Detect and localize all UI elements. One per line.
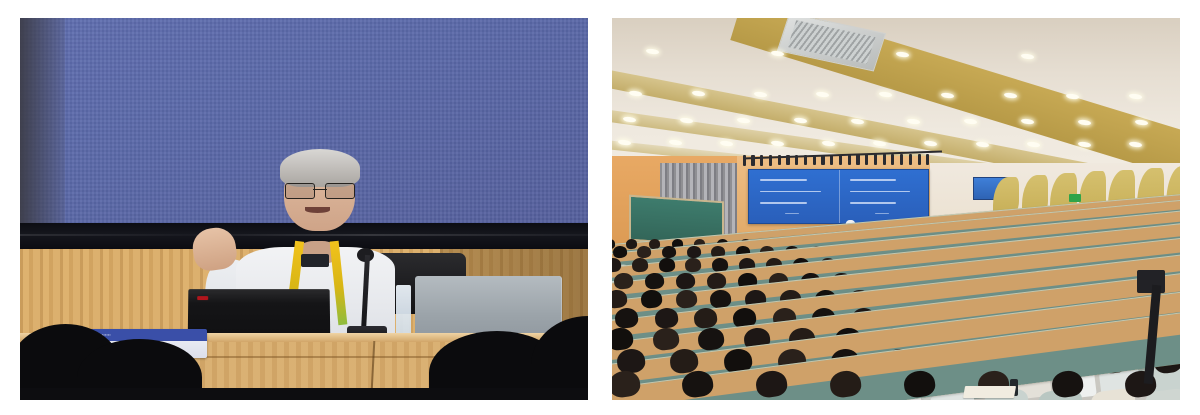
slide-text-line xyxy=(850,179,897,181)
stage-spotlight xyxy=(900,154,903,165)
audience-head xyxy=(644,272,664,289)
speaker-hair xyxy=(280,149,360,187)
stage-spotlight xyxy=(760,155,763,166)
exit-sign-icon xyxy=(1069,194,1080,202)
stage-spotlight xyxy=(926,154,929,165)
right-photo-lecture-hall[interactable] xyxy=(612,18,1180,400)
audience-head xyxy=(661,246,676,259)
stage-spotlight xyxy=(743,155,746,166)
stage-spotlight xyxy=(891,154,894,165)
slide-text-line xyxy=(850,202,897,204)
slide-text-line xyxy=(875,213,889,215)
stage-spotlight xyxy=(778,155,781,166)
eyeglasses-icon xyxy=(285,183,355,197)
stage-spotlight xyxy=(786,155,789,166)
lapel-microphone xyxy=(301,254,329,267)
stage-spotlight xyxy=(848,155,851,166)
stage-spotlight xyxy=(883,154,886,165)
audience-head xyxy=(612,246,627,259)
backdrop-shadow xyxy=(20,18,65,226)
stage-spotlight xyxy=(839,155,842,166)
stage-spotlight xyxy=(865,154,868,165)
audience-head xyxy=(613,272,633,289)
slide-text-line xyxy=(760,202,807,204)
audience-head xyxy=(658,258,675,273)
lighting-truss xyxy=(743,150,942,165)
audience-head xyxy=(686,246,701,259)
stage-spotlight xyxy=(795,155,798,166)
slide-text-line xyxy=(760,191,821,193)
stage-spotlight xyxy=(804,155,807,166)
slide-text-line xyxy=(760,179,807,181)
stage-spotlight xyxy=(918,154,921,165)
slide-text-line xyxy=(850,191,911,193)
slide-text-line xyxy=(785,213,799,215)
stage-spotlight xyxy=(813,155,816,166)
stage-spotlight xyxy=(874,154,877,165)
left-photo-speaker[interactable]: ▪ ▪▪▪▪▪▪▪▪▪▪ ▬▬ ▬▬▬ xyxy=(20,18,588,400)
stage-spotlight xyxy=(751,155,754,166)
stage-spotlight xyxy=(821,155,824,166)
photo-pair-page: ▪ ▪▪▪▪▪▪▪▪▪▪ ▬▬ ▬▬▬ xyxy=(0,0,1200,415)
audience-head xyxy=(675,272,695,289)
stage-spotlight xyxy=(830,155,833,166)
stage-spotlight xyxy=(856,154,859,165)
stage-spotlight xyxy=(769,155,772,166)
stage-spotlight xyxy=(909,154,912,165)
screen-divider xyxy=(839,170,840,223)
projection-screen xyxy=(748,169,929,224)
open-notebook xyxy=(963,386,1016,398)
photo-bottom-edge xyxy=(20,388,588,400)
